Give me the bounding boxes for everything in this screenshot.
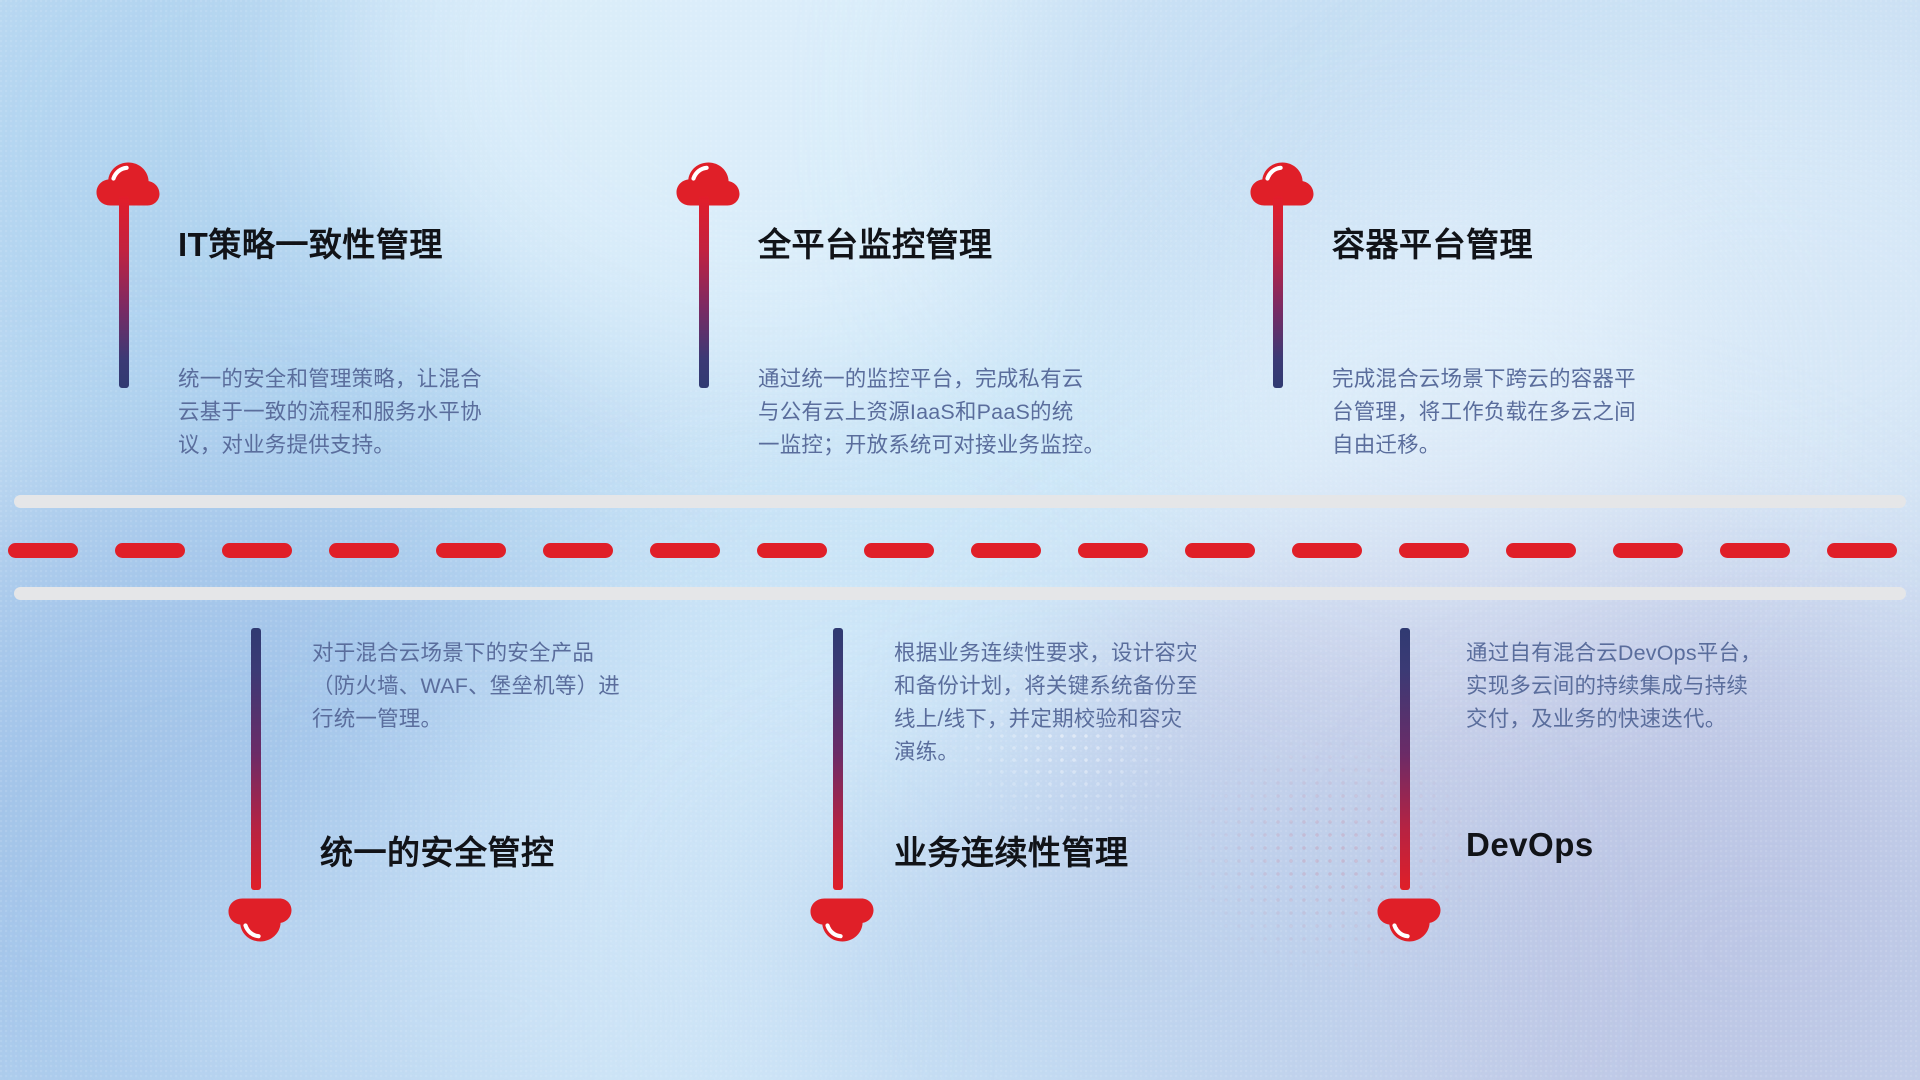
description-line: 线上/线下，并定期校验和容灾 <box>894 703 1198 736</box>
item-title: 统一的安全管控 <box>320 826 555 874</box>
dash-segment <box>1185 543 1255 558</box>
description-line: 与公有云上资源IaaS和PaaS的统 <box>758 396 1105 429</box>
dash-segment <box>329 543 399 558</box>
description-line: 实现多云间的持续集成与持续 <box>1466 670 1762 703</box>
dash-segment <box>1827 543 1897 558</box>
connector-stem <box>699 196 709 388</box>
divider-line-top <box>14 495 1906 508</box>
dash-segment <box>543 543 613 558</box>
dash-segment <box>1720 543 1790 558</box>
connector-stem <box>1400 628 1410 890</box>
item-description: 统一的安全和管理策略，让混合 云基于一致的流程和服务水平协 议，对业务提供支持。 <box>178 363 482 462</box>
dash-segment <box>1613 543 1683 558</box>
description-line: 自由迁移。 <box>1332 429 1636 462</box>
dash-segment <box>650 543 720 558</box>
description-line: 统一的安全和管理策略，让混合 <box>178 363 482 396</box>
description-line: 对于混合云场景下的安全产品 <box>312 637 620 670</box>
item-title: 业务连续性管理 <box>894 826 1129 874</box>
item-description: 通过统一的监控平台，完成私有云 与公有云上资源IaaS和PaaS的统 一监控；开… <box>758 363 1105 462</box>
connector-stem <box>1273 196 1283 388</box>
dash-segment <box>864 543 934 558</box>
item-description: 根据业务连续性要求，设计容灾 和备份计划，将关键系统备份至 线上/线下，并定期校… <box>894 637 1198 769</box>
dash-segment <box>115 543 185 558</box>
dash-segment <box>222 543 292 558</box>
dash-segment <box>8 543 78 558</box>
item-description: 通过自有混合云DevOps平台， 实现多云间的持续集成与持续 交付，及业务的快速… <box>1466 637 1762 736</box>
dash-segment <box>1292 543 1362 558</box>
item-title: IT策略一致性管理 <box>178 218 443 266</box>
cloud-icon <box>810 898 874 942</box>
item-title: DevOps <box>1466 826 1594 864</box>
connector-stem <box>119 196 129 388</box>
item-description: 完成混合云场景下跨云的容器平 台管理，将工作负载在多云之间 自由迁移。 <box>1332 363 1636 462</box>
connector-stem <box>833 628 843 890</box>
description-line: 行统一管理。 <box>312 703 620 736</box>
divider-line-bottom <box>14 587 1906 600</box>
dash-segment <box>1506 543 1576 558</box>
connector-stem <box>251 628 261 890</box>
description-line: 台管理，将工作负载在多云之间 <box>1332 396 1636 429</box>
description-line: 完成混合云场景下跨云的容器平 <box>1332 363 1636 396</box>
cloud-icon <box>228 898 292 942</box>
description-line: 通过自有混合云DevOps平台， <box>1466 637 1762 670</box>
dash-segment <box>1399 543 1469 558</box>
description-line: 交付，及业务的快速迭代。 <box>1466 703 1762 736</box>
description-line: 和备份计划，将关键系统备份至 <box>894 670 1198 703</box>
dash-segment <box>1078 543 1148 558</box>
infographic-canvas: IT策略一致性管理 统一的安全和管理策略，让混合 云基于一致的流程和服务水平协 … <box>0 0 1920 1080</box>
item-description: 对于混合云场景下的安全产品 （防火墙、WAF、堡垒机等）进 行统一管理。 <box>312 637 620 736</box>
cloud-icon <box>1377 898 1441 942</box>
description-line: 议，对业务提供支持。 <box>178 429 482 462</box>
dash-segment <box>971 543 1041 558</box>
description-line: 通过统一的监控平台，完成私有云 <box>758 363 1105 396</box>
description-line: 演练。 <box>894 736 1198 769</box>
item-title: 全平台监控管理 <box>758 218 993 266</box>
description-line: 云基于一致的流程和服务水平协 <box>178 396 482 429</box>
description-line: 一监控；开放系统可对接业务监控。 <box>758 429 1105 462</box>
dash-segment <box>757 543 827 558</box>
dashed-divider <box>0 542 1920 558</box>
description-line: 根据业务连续性要求，设计容灾 <box>894 637 1198 670</box>
description-line: （防火墙、WAF、堡垒机等）进 <box>312 670 620 703</box>
dash-segment <box>436 543 506 558</box>
item-title: 容器平台管理 <box>1332 218 1533 266</box>
